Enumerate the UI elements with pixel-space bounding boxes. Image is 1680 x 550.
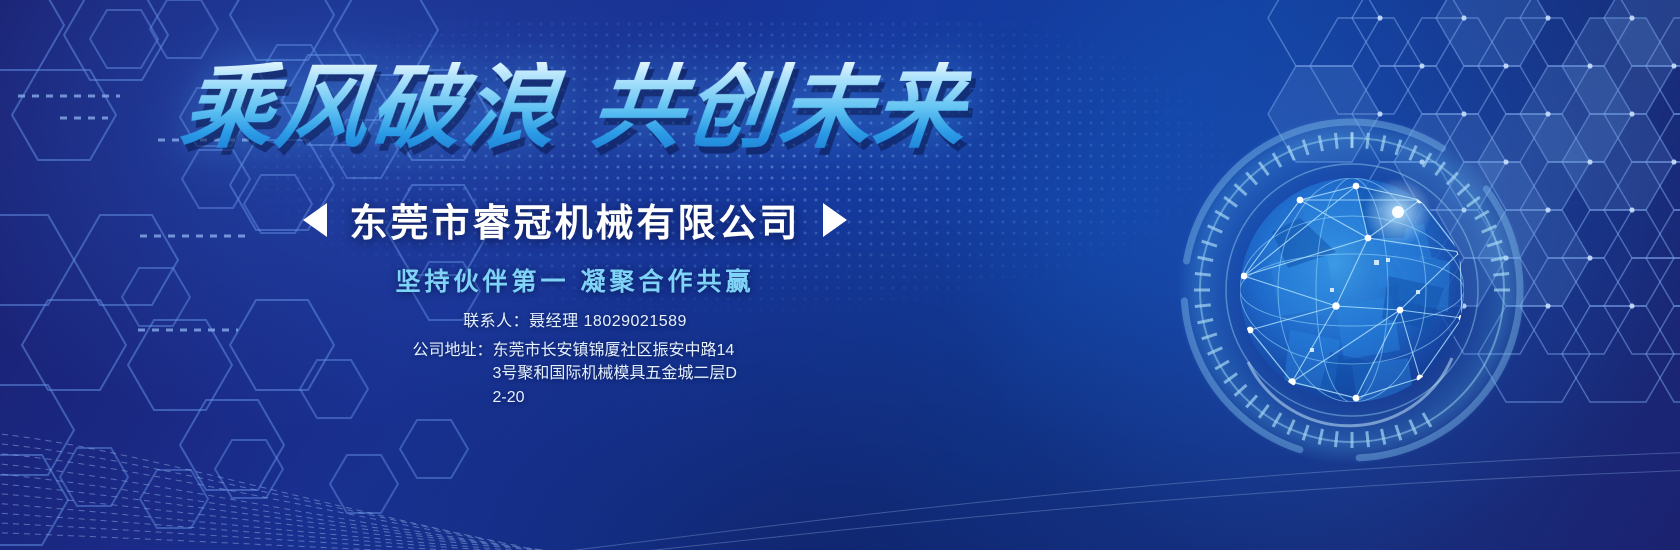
address-value: 东莞市长安镇锦厦社区振安中路143号聚和国际机械模具五金城二层D2-20 <box>493 339 738 409</box>
main-title: 乘风破浪 共创未来 <box>177 62 973 154</box>
company-name-row: 东莞市睿冠机械有限公司 <box>0 192 1150 247</box>
contact-person-line: 联系人：聂经理 18029021589 <box>0 310 1150 333</box>
contact-information: 联系人：聂经理 18029021589 公司地址： 东莞市长安镇锦厦社区振安中路… <box>0 310 1150 409</box>
banner-content: 乘风破浪 共创未来 东莞市睿冠机械有限公司 坚持伙伴第一 凝聚合作共赢 联系人：… <box>0 0 1680 550</box>
company-name: 东莞市睿冠机械有限公司 <box>349 192 800 247</box>
promotional-banner: 乘风破浪 共创未来 东莞市睿冠机械有限公司 坚持伙伴第一 凝聚合作共赢 联系人：… <box>0 0 1680 550</box>
main-title-container: 乘风破浪 共创未来 <box>0 62 1150 154</box>
slogan-text: 坚持伙伴第一 凝聚合作共赢 <box>0 262 1150 298</box>
company-address-row: 公司地址： 东莞市长安镇锦厦社区振安中路143号聚和国际机械模具五金城二层D2-… <box>0 339 1150 409</box>
address-label: 公司地址： <box>412 339 492 362</box>
right-triangle-icon <box>823 203 847 237</box>
left-triangle-icon <box>303 203 327 237</box>
